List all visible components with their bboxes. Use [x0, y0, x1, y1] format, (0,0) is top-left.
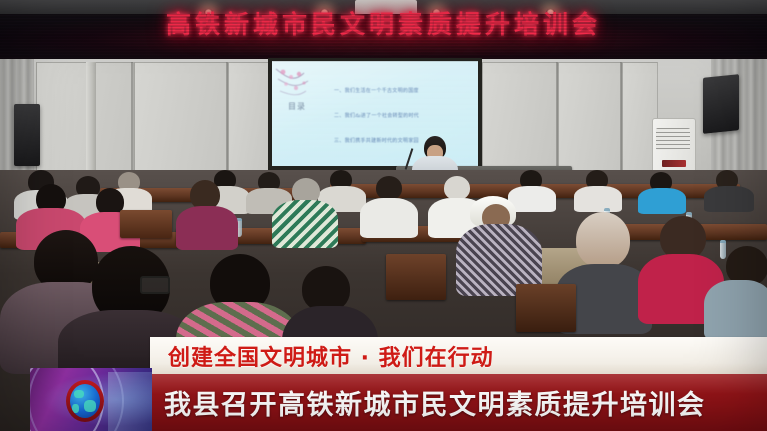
person-head-bald — [576, 212, 630, 268]
slide-item: 二、我们ను进了一个社会转型的时代 — [334, 112, 419, 120]
projection-screen: 目录 一、我们生活在一个千古文明的国度 二、我们ను进了一个社会转型的时代 三、… — [272, 61, 478, 166]
air-conditioner-badge — [662, 160, 686, 167]
slogan-text: 创建全国文明城市 · 我们在行动 — [168, 340, 494, 371]
chair-back — [516, 284, 576, 332]
person-body — [176, 206, 238, 250]
person-body — [360, 198, 418, 238]
wall-speaker — [703, 74, 739, 134]
slide-title: 目录 — [288, 101, 306, 112]
wall-speaker — [14, 104, 40, 166]
broadcast-video-frame: 高铁新城市民文明素质提升培训会 目录 一、我们生活在一个千古文明的国度 二、我们… — [0, 0, 767, 431]
globe-landmass — [74, 390, 84, 398]
globe-landmass — [84, 400, 96, 412]
slide-item: 一、我们生活在一个千古文明的国度 — [334, 87, 419, 94]
water-bottle — [720, 240, 726, 259]
led-banner-text: 高铁新城市民文明素质提升培训会 — [0, 0, 767, 45]
person-body — [638, 188, 686, 214]
headline-text: 我县召开高铁新城市民文明素质提升培训会 — [164, 374, 706, 431]
slide-item: 三、我们携手共建新时代的文明家园 — [334, 137, 419, 144]
person-head — [444, 176, 470, 200]
chair-back — [386, 254, 446, 300]
air-conditioner-grille — [656, 128, 690, 150]
person-body — [704, 280, 767, 340]
person-body — [272, 200, 338, 248]
logo-side-panel — [108, 372, 152, 431]
person-body — [704, 186, 754, 212]
person-head — [376, 176, 402, 200]
eyeglasses — [140, 276, 170, 294]
station-logo — [30, 368, 152, 431]
globe-icon — [70, 384, 100, 418]
globe-landmass — [72, 404, 79, 413]
person-body — [574, 186, 622, 212]
chair-back — [120, 210, 172, 238]
